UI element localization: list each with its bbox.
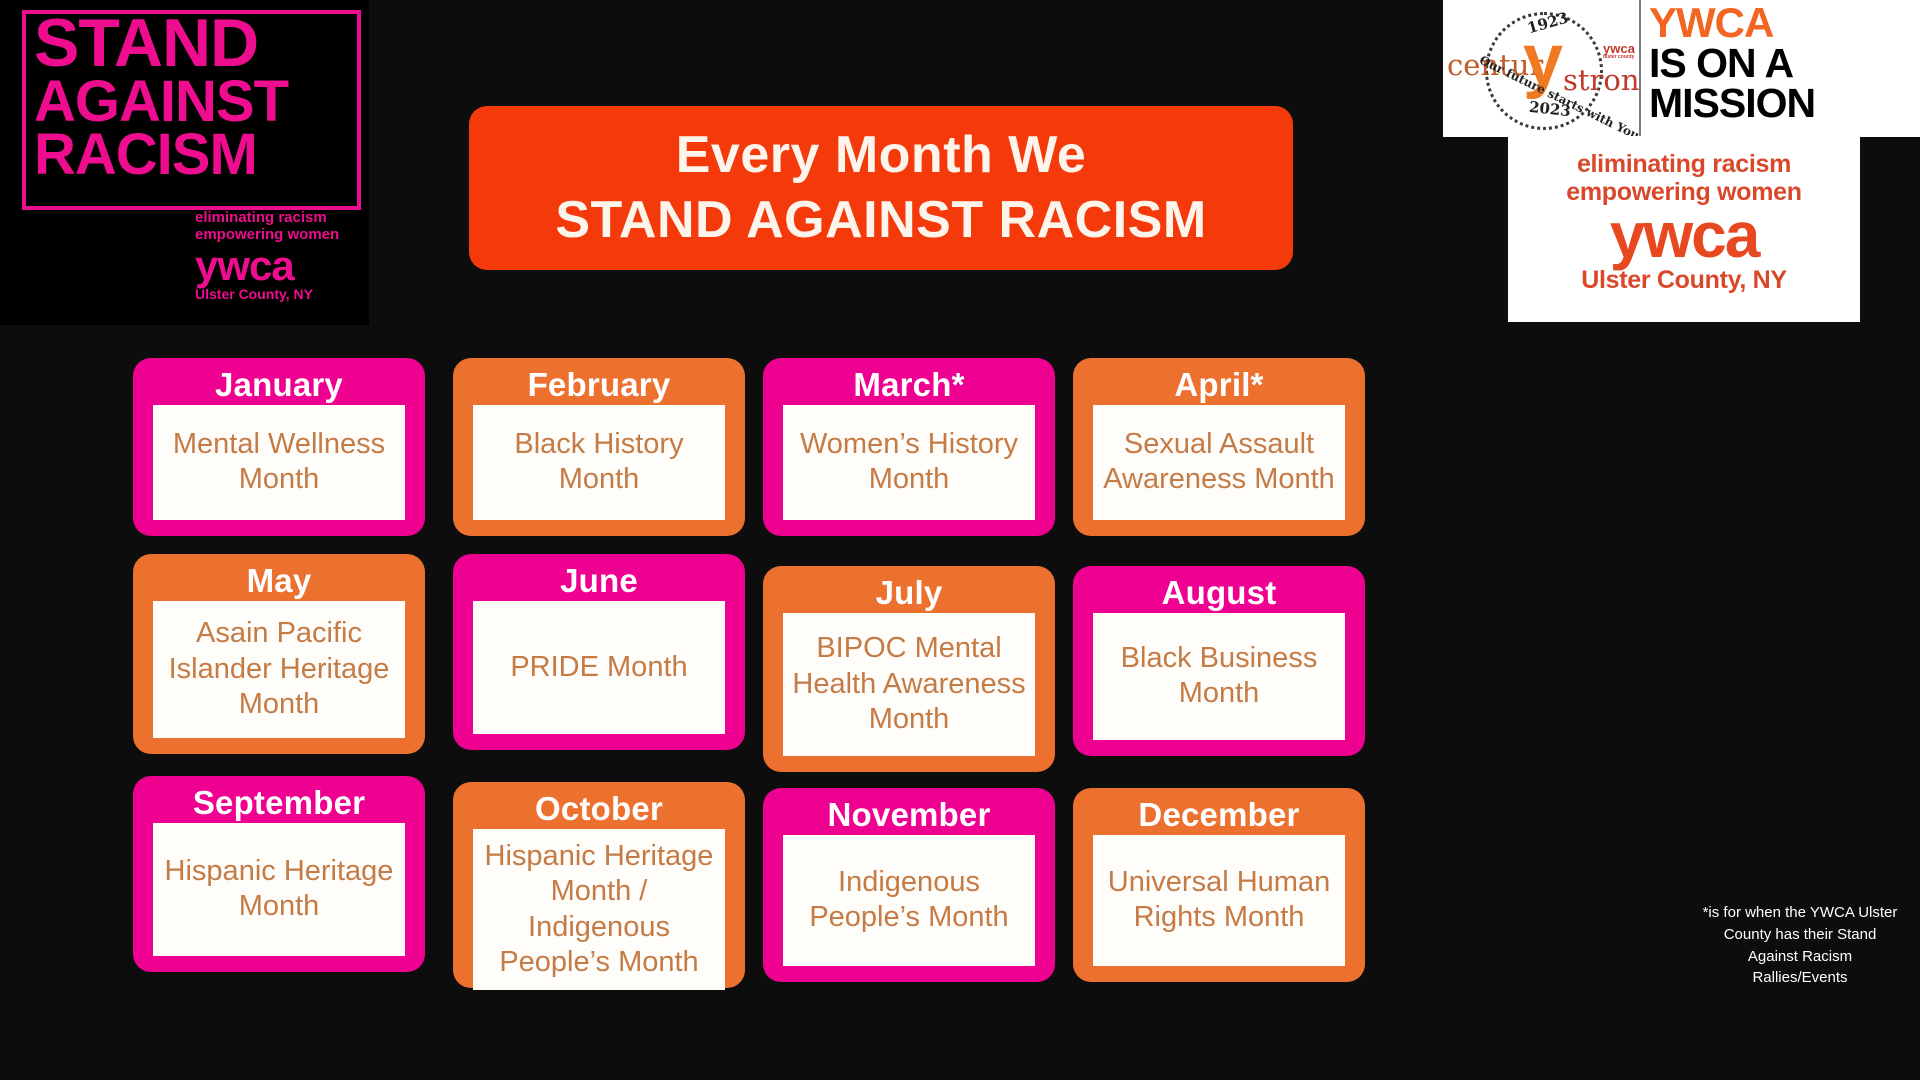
month-name: June [473, 562, 725, 601]
observance-label: Black History Month [481, 427, 717, 498]
month-name: October [473, 790, 725, 829]
observance-label: Asain Pacific Islander Heritage Month [161, 616, 397, 722]
century-strong-word: strong [1563, 63, 1641, 97]
century-ywca-mark: ywca ulster county [1603, 42, 1635, 60]
sar-tagline-1: eliminating racism [195, 210, 365, 227]
observance-box: Women’s History Month [783, 405, 1035, 520]
banner-line-2: STAND AGAINST RACISM [555, 188, 1206, 253]
observance-label: Mental Wellness Month [161, 427, 397, 498]
observance-box: PRIDE Month [473, 601, 725, 734]
observance-label: Hispanic Heritage Month / Indigenous Peo… [481, 839, 717, 981]
ywca-tagline-1: eliminating racism [1508, 150, 1860, 178]
sar-line-2: AGAINST [34, 75, 344, 128]
month-card: JunePRIDE Month [453, 554, 745, 750]
month-card: JanuaryMental Wellness Month [133, 358, 425, 536]
month-card: SeptemberHispanic Heritage Month [133, 776, 425, 972]
observance-label: PRIDE Month [510, 650, 687, 685]
month-name: April* [1093, 366, 1345, 405]
observance-box: BIPOC Mental Health Awareness Month [783, 613, 1035, 756]
month-name: August [1093, 574, 1345, 613]
month-name: May [153, 562, 405, 601]
observance-label: Sexual Assault Awareness Month [1101, 427, 1337, 498]
observance-box: Hispanic Heritage Month / Indigenous Peo… [473, 829, 725, 991]
ywca-brand: ywca [1508, 204, 1860, 267]
observance-box: Indigenous People’s Month [783, 835, 1035, 966]
main-title-banner: Every Month We STAND AGAINST RACISM [469, 106, 1293, 270]
banner-line-1: Every Month We [676, 123, 1087, 188]
month-card: AugustBlack Business Month [1073, 566, 1365, 756]
sar-line-1: STAND [34, 12, 344, 75]
month-card: JulyBIPOC Mental Health Awareness Month [763, 566, 1055, 772]
ywca-location: Ulster County, NY [1508, 267, 1860, 295]
month-card: March*Women’s History Month [763, 358, 1055, 536]
observance-label: Hispanic Heritage Month [161, 854, 397, 925]
month-card: OctoberHispanic Heritage Month / Indigen… [453, 782, 745, 988]
month-name: January [153, 366, 405, 405]
sar-ywca-brand: ywca [195, 245, 365, 287]
month-name: November [783, 796, 1035, 835]
observance-box: Black History Month [473, 405, 725, 520]
mission-line-1: YWCA [1649, 3, 1912, 44]
observance-box: Universal Human Rights Month [1093, 835, 1345, 966]
month-name: February [473, 366, 725, 405]
century-ywca-sub: ulster county [1603, 55, 1635, 60]
top-right-logo-strip: 1923 centur y strong 2023 Our future sta… [1443, 0, 1920, 137]
stand-against-racism-logo: STAND AGAINST RACISM eliminating racism … [0, 0, 369, 325]
mission-line-2: IS ON A [1649, 44, 1912, 84]
observance-label: Universal Human Rights Month [1101, 865, 1337, 936]
century-strong-logo: 1923 centur y strong 2023 Our future sta… [1443, 0, 1641, 137]
sar-location: Ulster County, NY [195, 287, 365, 302]
month-card: MayAsain Pacific Islander Heritage Month [133, 554, 425, 754]
month-name: December [1093, 796, 1345, 835]
month-name: July [783, 574, 1035, 613]
stand-against-racism-wordmark: STAND AGAINST RACISM [34, 12, 344, 181]
observance-box: Asain Pacific Islander Heritage Month [153, 601, 405, 738]
observance-box: Sexual Assault Awareness Month [1093, 405, 1345, 520]
observance-box: Hispanic Heritage Month [153, 823, 405, 956]
month-card: FebruaryBlack History Month [453, 358, 745, 536]
observance-label: BIPOC Mental Health Awareness Month [791, 631, 1027, 737]
month-observance-grid: JanuaryMental Wellness MonthFebruaryBlac… [133, 358, 1643, 1030]
observance-label: Black Business Month [1101, 641, 1337, 712]
asterisk-footnote: *is for when the YWCA Ulster County has … [1700, 902, 1900, 989]
month-name: March* [783, 366, 1035, 405]
observance-box: Mental Wellness Month [153, 405, 405, 520]
month-card: April*Sexual Assault Awareness Month [1073, 358, 1365, 536]
sar-ywca-lockup: eliminating racism empowering women ywca… [195, 210, 365, 302]
ywca-ulster-county-logo: eliminating racism empowering women ywca… [1508, 136, 1860, 322]
observance-label: Women’s History Month [791, 427, 1027, 498]
observance-box: Black Business Month [1093, 613, 1345, 740]
observance-label: Indigenous People’s Month [791, 865, 1027, 936]
month-card: NovemberIndigenous People’s Month [763, 788, 1055, 982]
month-card: DecemberUniversal Human Rights Month [1073, 788, 1365, 982]
month-name: September [153, 784, 405, 823]
sar-line-3: RACISM [34, 128, 344, 181]
mission-line-3: MISSION [1649, 84, 1912, 124]
ywca-is-on-a-mission-logo: YWCA IS ON A MISSION [1641, 0, 1920, 137]
